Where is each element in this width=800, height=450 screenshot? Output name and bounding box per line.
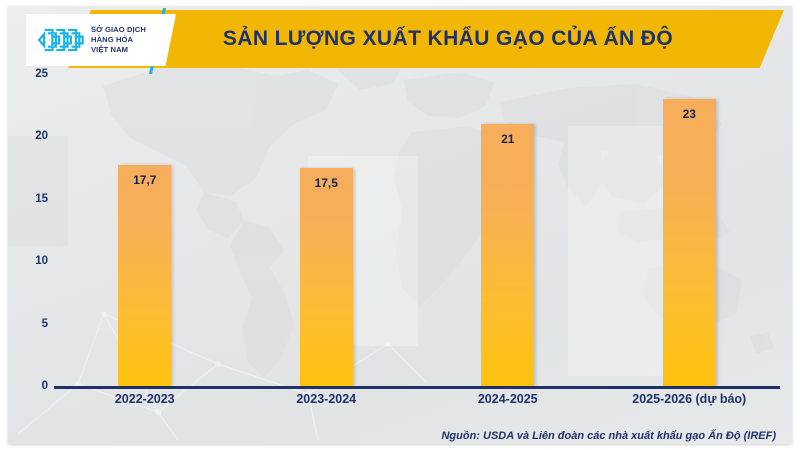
bar-column[interactable]: 21: [481, 74, 534, 386]
bar-value-label: 21: [481, 132, 534, 146]
x-axis-tick-label: 2024-2025: [478, 392, 538, 406]
bar[interactable]: [481, 124, 534, 386]
bar-column[interactable]: 23: [663, 74, 716, 386]
bar-value-label: 17,5: [300, 176, 353, 190]
infographic-chart-root: SẢN LƯỢNG XUẤT KHẨU GẠO CỦA ẤN ĐỘ: [0, 0, 800, 450]
y-axis-tick-label: 5: [42, 318, 48, 330]
bar-value-label: 23: [663, 107, 716, 121]
bar-series: 17,717,52123: [54, 74, 780, 386]
bar-column[interactable]: 17,7: [118, 74, 171, 386]
bar-value-label: 17,7: [118, 173, 171, 187]
bar[interactable]: [300, 168, 353, 386]
y-axis-tick-label: 10: [35, 255, 48, 267]
bar[interactable]: [663, 99, 716, 386]
source-note: Nguồn: USDA và Liên đoàn các nhà xuất kh…: [441, 430, 776, 442]
x-axis-labels: 2022-20232023-20242024-20252025-2026 (dự…: [54, 392, 780, 418]
x-axis-tick-label: 2025-2026 (dự báo): [632, 392, 746, 406]
y-axis: 0510152025: [8, 74, 54, 394]
x-axis-tick-label: 2023-2024: [296, 392, 356, 406]
plot-area: 0510152025 17,717,52123 2022-20232023-20…: [8, 74, 792, 450]
x-axis-baseline: [54, 386, 780, 389]
y-axis-tick-label: 25: [35, 68, 48, 80]
y-axis-tick-label: 0: [42, 380, 48, 392]
y-axis-tick-label: 15: [35, 193, 48, 205]
bar-column[interactable]: 17,5: [300, 74, 353, 386]
y-axis-tick-label: 20: [35, 130, 48, 142]
bar[interactable]: [118, 165, 171, 386]
x-axis-tick-label: 2022-2023: [115, 392, 175, 406]
